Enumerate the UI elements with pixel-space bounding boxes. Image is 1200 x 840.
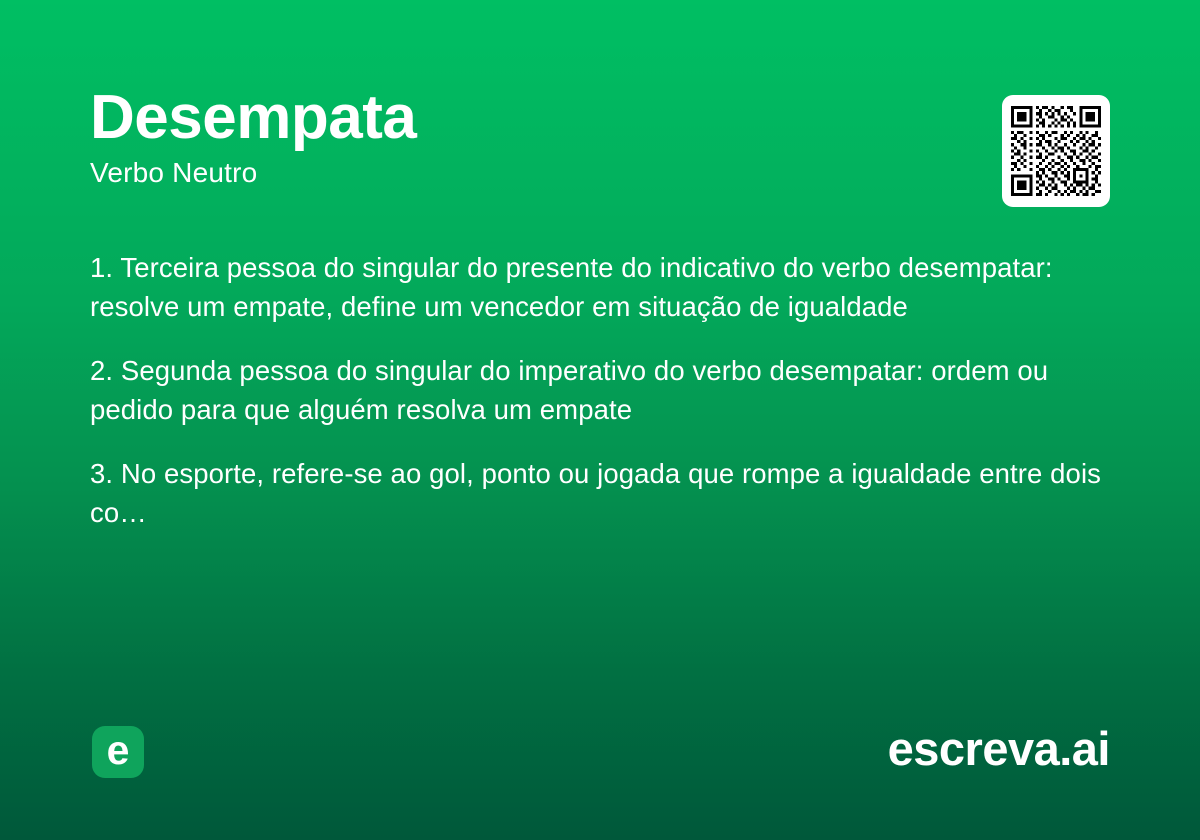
logo-letter: e: [107, 730, 130, 771]
qr-code-card[interactable]: [1002, 95, 1110, 207]
dictionary-card: Desempata Verbo Neutro: [0, 0, 1200, 840]
definition-list: 1. Terceira pessoa do singular do presen…: [90, 248, 1110, 532]
card-header: Desempata Verbo Neutro: [90, 86, 950, 189]
definition-item: 3. No esporte, refere-se ao gol, ponto o…: [90, 454, 1110, 532]
definition-item: 2. Segunda pessoa do singular do imperat…: [90, 351, 1110, 429]
qr-code-icon: [1011, 104, 1101, 198]
page-title: Desempata: [90, 86, 950, 150]
part-of-speech-label: Verbo Neutro: [90, 158, 950, 189]
definition-item: 1. Terceira pessoa do singular do presen…: [90, 248, 1110, 326]
escreva-logo-icon: e: [92, 726, 144, 778]
brand-wordmark: escreva.ai: [888, 723, 1110, 775]
